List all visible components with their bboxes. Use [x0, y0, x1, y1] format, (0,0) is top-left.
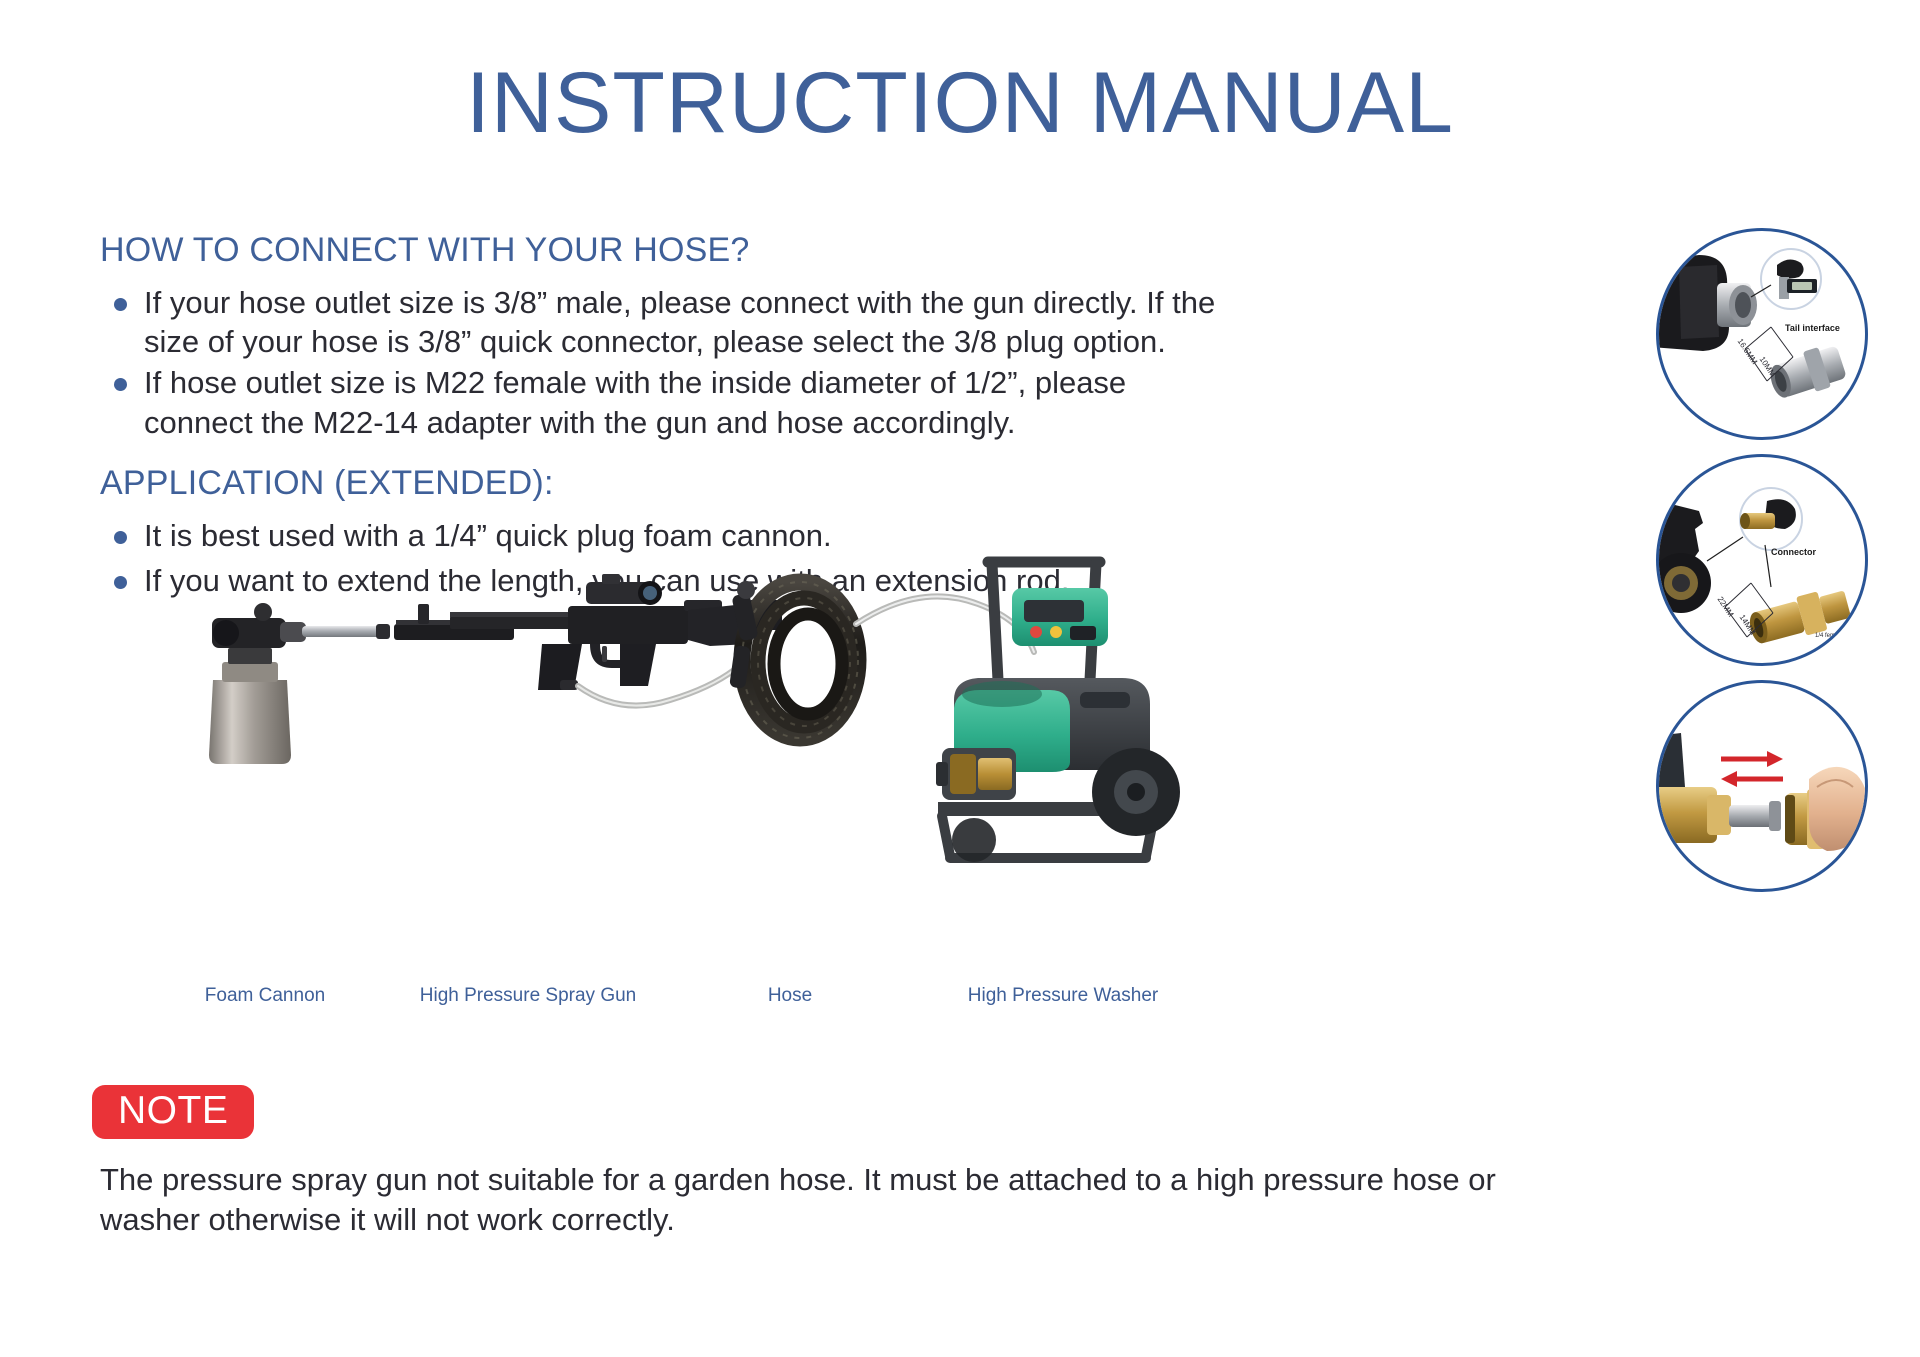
label-hose: Hose: [768, 985, 812, 1007]
connector-callout: Connector: [1771, 547, 1816, 557]
page-title: INSTRUCTION MANUAL: [0, 58, 1920, 148]
connect-bullet-list: If your hose outlet size is 3/8” male, p…: [100, 283, 1240, 441]
pressure-washer-illustration: [936, 562, 1180, 862]
bullet-dot-icon: [114, 378, 127, 391]
bullet-text: If your hose outlet size is 3/8” male, p…: [144, 285, 1215, 359]
connector-sub-label: 1/4 female: [1815, 633, 1843, 639]
product-setup-diagram: [150, 540, 1270, 960]
list-item: If your hose outlet size is 3/8” male, p…: [100, 283, 1240, 361]
quick-release-inset: [1656, 680, 1868, 892]
list-item: If hose outlet size is M22 female with t…: [100, 363, 1240, 441]
label-spray-gun: High Pressure Spray Gun: [420, 985, 637, 1007]
connector-inset: Connector 22MM 14MM 1/4 female: [1656, 454, 1868, 666]
instruction-manual-page: INSTRUCTION MANUAL HOW TO CONNECT WITH Y…: [0, 0, 1920, 1357]
label-foam-cannon: Foam Cannon: [205, 985, 325, 1007]
label-pressure-washer: High Pressure Washer: [968, 985, 1158, 1007]
spray-gun-illustration: [394, 574, 782, 690]
bullet-text: If hose outlet size is M22 female with t…: [144, 365, 1126, 439]
diagram-labels: Foam Cannon High Pressure Spray Gun Hose…: [150, 985, 1270, 1015]
hose-coil-illustration: [729, 581, 858, 738]
foam-cannon-illustration: [209, 603, 390, 764]
section-heading-application: APPLICATION (EXTENDED):: [100, 465, 1280, 502]
bullet-dot-icon: [114, 298, 127, 311]
tail-interface-callout: Tail interface: [1785, 323, 1840, 333]
note-text: The pressure spray gun not suitable for …: [100, 1160, 1500, 1239]
section-heading-connect: HOW TO CONNECT WITH YOUR HOSE?: [100, 232, 1240, 269]
tail-interface-inset: Tail interface 16.5MM 10MM: [1656, 228, 1868, 440]
bullet-dot-icon: [114, 576, 127, 589]
note-badge: NOTE: [92, 1085, 254, 1139]
connect-section: HOW TO CONNECT WITH YOUR HOSE? If your h…: [100, 232, 1240, 444]
bullet-dot-icon: [114, 531, 127, 544]
inset-photo-column: Tail interface 16.5MM 10MM: [1656, 228, 1886, 906]
